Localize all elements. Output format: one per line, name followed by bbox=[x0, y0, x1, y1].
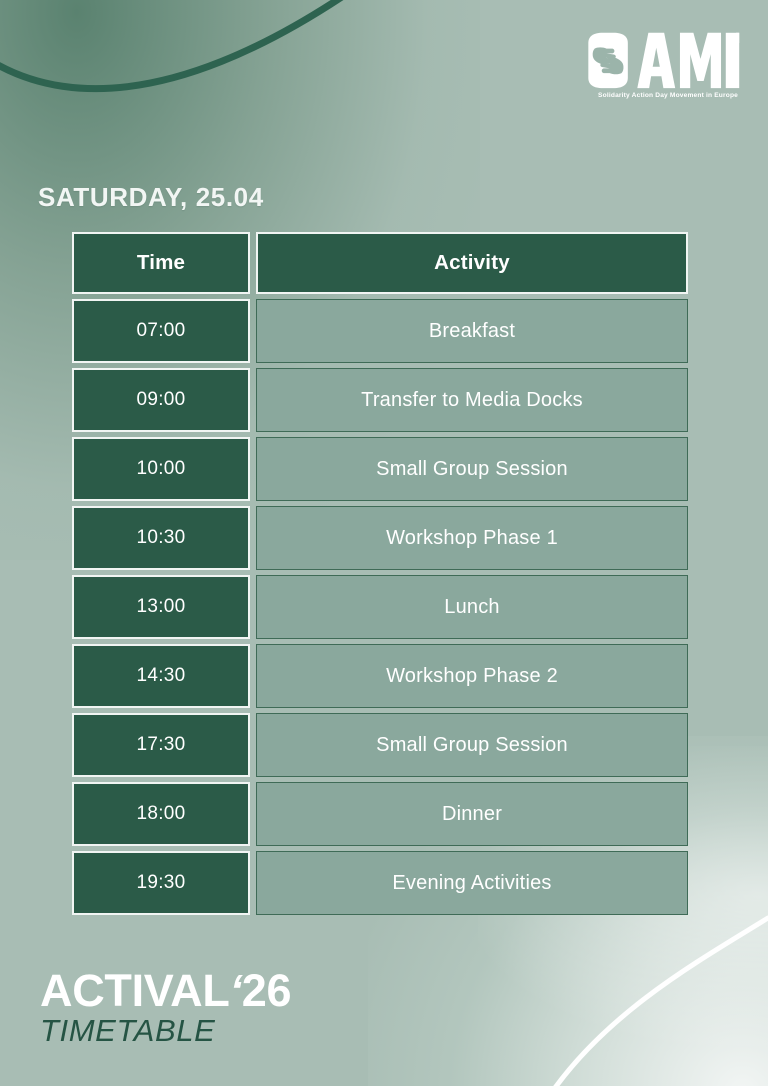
table-row[interactable]: 19:30 Evening Activities bbox=[72, 851, 688, 915]
footer-branding: ACTIVAL‘26 TIMETABLE bbox=[40, 969, 291, 1048]
cell-time: 07:00 bbox=[72, 299, 250, 363]
column-header-activity: Activity bbox=[256, 232, 688, 294]
cell-time: 18:00 bbox=[72, 782, 250, 846]
arc-bottom-right-white-icon bbox=[552, 918, 768, 1086]
table-row[interactable]: 13:00 Lunch bbox=[72, 575, 688, 639]
cell-activity: Small Group Session bbox=[256, 437, 688, 501]
same-wordmark-icon bbox=[582, 32, 740, 89]
poster-canvas: Solidarity Action Day Movement in Europe… bbox=[0, 0, 768, 1086]
cell-activity: Small Group Session bbox=[256, 713, 688, 777]
cell-activity: Workshop Phase 2 bbox=[256, 644, 688, 708]
brand-prefix: ACTIVAL bbox=[40, 965, 230, 1016]
cell-time: 10:00 bbox=[72, 437, 250, 501]
cell-time: 10:30 bbox=[72, 506, 250, 570]
table-row[interactable]: 10:00 Small Group Session bbox=[72, 437, 688, 501]
event-brand-name: ACTIVAL‘26 bbox=[40, 969, 291, 1013]
cell-activity: Transfer to Media Docks bbox=[256, 368, 688, 432]
cell-time: 17:30 bbox=[72, 713, 250, 777]
column-header-time: Time bbox=[72, 232, 250, 294]
cell-activity: Lunch bbox=[256, 575, 688, 639]
cell-activity: Evening Activities bbox=[256, 851, 688, 915]
cell-time: 13:00 bbox=[72, 575, 250, 639]
timetable: Time Activity 07:00 Breakfast 09:00 Tran… bbox=[72, 232, 688, 920]
footer-subtitle: TIMETABLE bbox=[40, 1015, 291, 1048]
table-header-row: Time Activity bbox=[72, 232, 688, 294]
table-row[interactable]: 14:30 Workshop Phase 2 bbox=[72, 644, 688, 708]
table-row[interactable]: 10:30 Workshop Phase 1 bbox=[72, 506, 688, 570]
cell-activity: Dinner bbox=[256, 782, 688, 846]
brand-year: 26 bbox=[242, 965, 291, 1016]
page-title: SATURDAY, 25.04 bbox=[38, 182, 264, 213]
cell-activity: Workshop Phase 1 bbox=[256, 506, 688, 570]
cell-activity: Breakfast bbox=[256, 299, 688, 363]
cell-time: 09:00 bbox=[72, 368, 250, 432]
table-row[interactable]: 09:00 Transfer to Media Docks bbox=[72, 368, 688, 432]
table-row[interactable]: 07:00 Breakfast bbox=[72, 299, 688, 363]
cell-time: 19:30 bbox=[72, 851, 250, 915]
table-row[interactable]: 17:30 Small Group Session bbox=[72, 713, 688, 777]
table-row[interactable]: 18:00 Dinner bbox=[72, 782, 688, 846]
arc-top-left-dark-icon bbox=[0, 0, 420, 89]
same-logo-tagline: Solidarity Action Day Movement in Europe bbox=[540, 92, 740, 99]
same-logo: Solidarity Action Day Movement in Europe bbox=[540, 32, 740, 99]
cell-time: 14:30 bbox=[72, 644, 250, 708]
